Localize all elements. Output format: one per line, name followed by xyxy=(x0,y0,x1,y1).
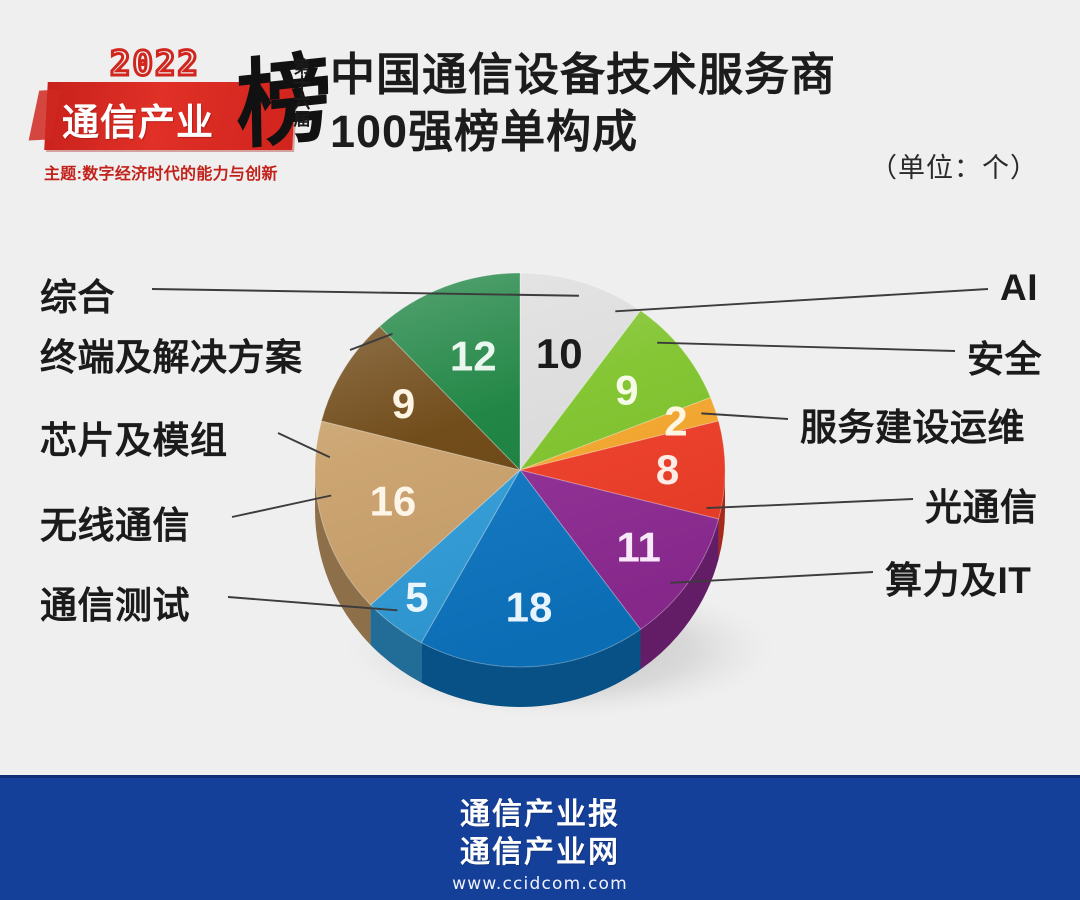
footer-brand-line-2: 通信产业网 xyxy=(0,834,1080,872)
pie-label-xinpian-mozu[interactable]: 芯片及模组 xyxy=(40,410,228,464)
pie-label-tongxin-ceshi[interactable]: 通信测试 xyxy=(40,575,190,629)
event-logo: 2022 通信产业 榜 第十六届 主题:数字经济时代的能力与创新 xyxy=(40,42,312,187)
unit-note: （单位：个） xyxy=(870,146,1038,185)
footer-url[interactable]: www.ccidcom.com xyxy=(0,874,1080,894)
pie-value-芯片及模组: 9 xyxy=(392,380,415,427)
leader-line-光通信 xyxy=(706,499,913,508)
footer-content: 通信产业报 通信产业网 www.ccidcom.com xyxy=(0,796,1080,894)
pie-label-zonghe[interactable]: 综合 xyxy=(40,267,115,321)
pie-label-guang-tongxin[interactable]: 光通信 xyxy=(925,477,1038,531)
logo-edition: 第十六届 xyxy=(292,60,312,129)
pie-value-综合: 10 xyxy=(536,330,583,377)
page-title-line-1: 中国通信设备技术服务商 xyxy=(330,46,990,103)
pie-value-光通信: 11 xyxy=(616,524,660,571)
pie-value-安全: 2 xyxy=(664,397,687,444)
pie-label-ai[interactable]: AI xyxy=(1000,267,1038,309)
pie-chart-svg: 109281118516912 xyxy=(0,205,1080,775)
leader-line-安全 xyxy=(657,343,955,351)
header: 2022 通信产业 榜 第十六届 主题:数字经济时代的能力与创新 中国通信设备技… xyxy=(0,0,1080,210)
page-title: 中国通信设备技术服务商 100强榜单构成 xyxy=(330,46,990,160)
pie-value-终端及解决方案: 12 xyxy=(450,332,497,379)
pie-label-anquan[interactable]: 安全 xyxy=(967,329,1042,383)
footer-band: 通信产业报 通信产业网 www.ccidcom.com xyxy=(0,775,1080,900)
pie-label-wuxian-tongxin[interactable]: 无线通信 xyxy=(40,495,190,549)
pie-value-算力及IT: 18 xyxy=(506,584,553,631)
pie-value-无线通信: 16 xyxy=(370,477,417,524)
pie-label-zhongduan-fangan[interactable]: 终端及解决方案 xyxy=(40,327,303,381)
logo-bang-character: 榜 xyxy=(235,53,332,152)
pie-value-AI: 9 xyxy=(615,366,638,413)
pie-value-服务建设运维: 8 xyxy=(656,446,679,493)
pie-label-fuwu-jianshe-yunwei[interactable]: 服务建设运维 xyxy=(800,397,1025,451)
pie-value-通信测试: 5 xyxy=(405,574,428,621)
leader-line-AI xyxy=(615,289,988,311)
pie-label-suanli-ji-it[interactable]: 算力及IT xyxy=(885,550,1031,604)
logo-theme: 主题:数字经济时代的能力与创新 xyxy=(44,160,278,184)
logo-year: 2022 xyxy=(110,44,200,84)
pie-chart-figure: 109281118516912 综合 终端及解决方案 芯片及模组 无线通信 通信… xyxy=(0,205,1080,775)
logo-brand: 通信产业 xyxy=(62,92,214,146)
footer-brand-line-1: 通信产业报 xyxy=(0,796,1080,834)
